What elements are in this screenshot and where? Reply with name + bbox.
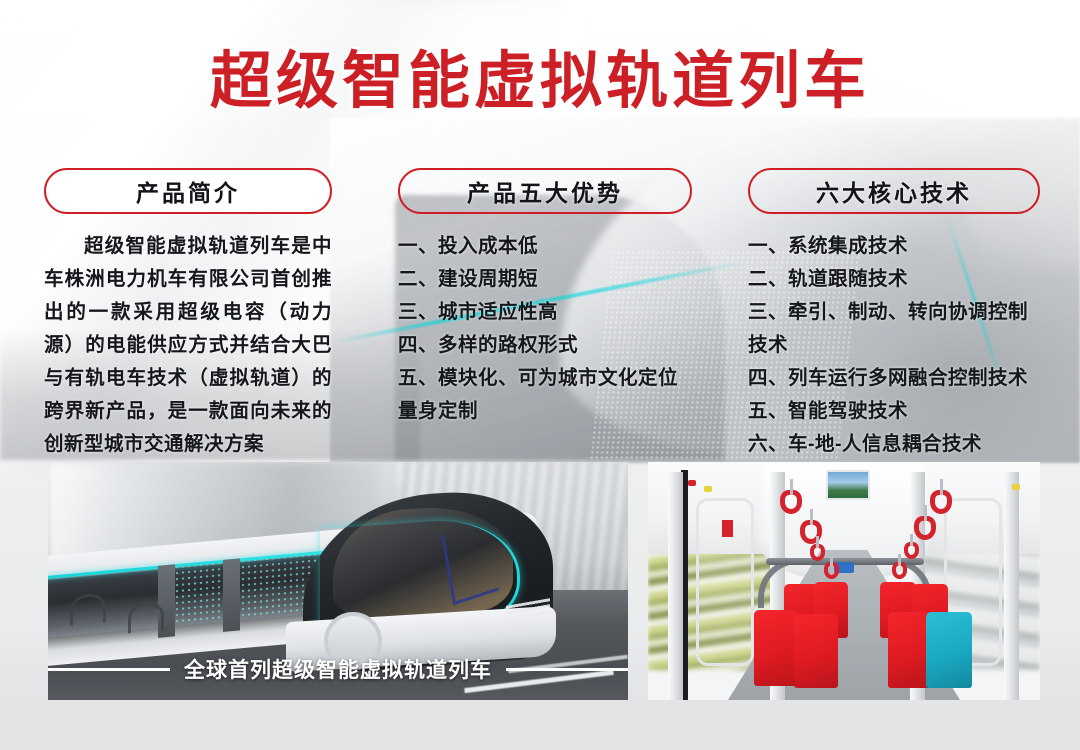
hanging-strap xyxy=(930,490,952,514)
section-heading-label: 产品五大优势 xyxy=(467,174,623,208)
six-core-technologies-list: 一、系统集成技术 二、轨道跟随技术 三、牵引、制动、转向协调控制技术 四、列车运… xyxy=(748,230,1040,461)
hanging-strap xyxy=(904,542,919,559)
tram-interior-illustration xyxy=(648,462,1040,700)
list-item: 二、轨道跟随技术 xyxy=(748,263,1040,296)
caption-text: 全球首列超级智能虚拟轨道列车 xyxy=(184,654,492,684)
indicator-light xyxy=(1012,484,1020,490)
list-item: 三、城市适应性高 xyxy=(398,296,692,329)
seat xyxy=(794,614,838,688)
five-advantages-list: 一、投入成本低 二、建设周期短 三、城市适应性高 四、多样的路权形式 五、模块化… xyxy=(398,230,692,428)
caption-rule-left xyxy=(48,668,170,671)
list-item: 五、智能驾驶技术 xyxy=(748,395,1040,428)
tram-exterior-photo: 全球首列超级智能虚拟轨道列车 xyxy=(48,462,628,700)
list-item: 三、牵引、制动、转向协调控制技术 xyxy=(748,296,1040,362)
information-screen xyxy=(826,470,870,500)
hanging-strap xyxy=(914,516,936,540)
interior-pillar xyxy=(1004,472,1019,700)
hanging-strap xyxy=(824,562,839,579)
poster-canvas: 超级智能虚拟轨道列车 产品简介 超级智能虚拟轨道列车是中车株洲电力机车有限公司首… xyxy=(0,0,1080,750)
hanging-strap xyxy=(892,562,907,579)
list-item: 六、车-地-人信息耦合技术 xyxy=(748,428,1040,461)
caption-rule-right xyxy=(506,668,628,671)
section-heading-label: 产品简介 xyxy=(136,174,240,208)
section-product-intro: 产品简介 超级智能虚拟轨道列车是中车株洲电力机车有限公司首创推出的一款采用超级电… xyxy=(44,168,332,461)
section-heading-pill-five-advantages: 产品五大优势 xyxy=(398,168,692,214)
photo-caption: 全球首列超级智能虚拟轨道列车 xyxy=(48,654,628,684)
section-heading-pill-six-core-technologies: 六大核心技术 xyxy=(748,168,1040,214)
list-item: 一、系统集成技术 xyxy=(748,230,1040,263)
seat xyxy=(754,610,798,686)
tram-pillar xyxy=(223,558,240,632)
emergency-button xyxy=(722,520,733,537)
tram-interior-photo xyxy=(648,462,1040,700)
hanging-strap xyxy=(810,544,825,561)
section-five-advantages: 产品五大优势 一、投入成本低 二、建设周期短 三、城市适应性高 四、多样的路权形… xyxy=(398,168,692,428)
list-item: 一、投入成本低 xyxy=(398,230,692,263)
seat xyxy=(926,612,972,688)
list-item: 四、多样的路权形式 xyxy=(398,329,692,362)
section-six-core-technologies: 六大核心技术 一、系统集成技术 二、轨道跟随技术 三、牵引、制动、转向协调控制技… xyxy=(748,168,1040,461)
hanging-strap xyxy=(780,490,802,514)
page-title: 超级智能虚拟轨道列车 xyxy=(0,46,1080,118)
list-item: 四、列车运行多网融合控制技术 xyxy=(748,362,1040,395)
product-intro-paragraph: 超级智能虚拟轨道列车是中车株洲电力机车有限公司首创推出的一款采用超级电容（动力源… xyxy=(44,230,332,461)
section-heading-label: 六大核心技术 xyxy=(816,174,972,208)
indicator-light xyxy=(688,480,696,486)
indicator-light xyxy=(704,486,712,492)
list-item: 五、模块化、可为城市文化定位量身定制 xyxy=(398,362,692,428)
seat xyxy=(888,612,930,688)
interior-pillar xyxy=(668,472,683,700)
list-item: 二、建设周期短 xyxy=(398,263,692,296)
section-heading-pill-product-intro: 产品简介 xyxy=(44,168,332,214)
